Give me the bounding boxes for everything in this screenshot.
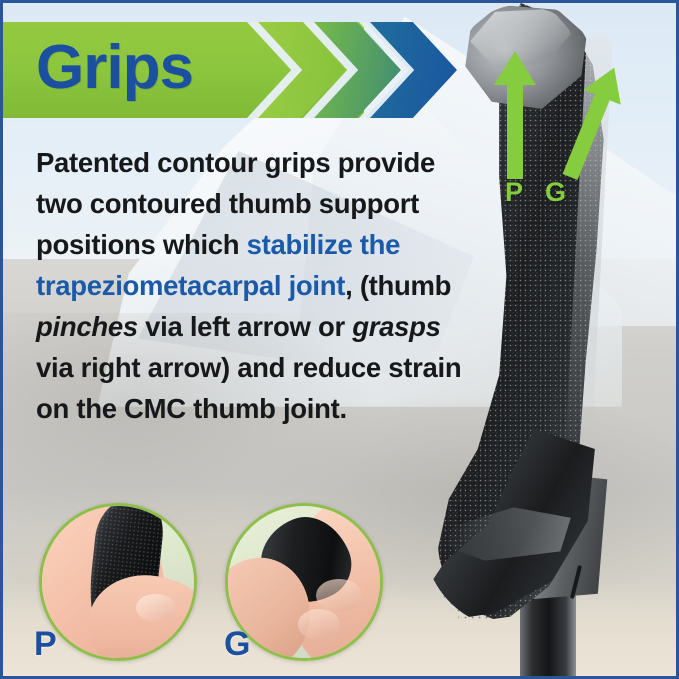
text-segment-italic-pinches: pinches <box>36 311 138 342</box>
knuckle-detail-1 <box>316 579 362 612</box>
knuckle-detail-2 <box>298 609 341 639</box>
text-segment-6: via right arrow) and reduce strain on th… <box>36 352 461 424</box>
thumbnail-detail-p <box>136 594 176 621</box>
description-text: Patented contour grips provide two conto… <box>36 142 466 429</box>
product-feature-poster: Grips Patented contour grips provide two… <box>0 0 679 679</box>
inset-label-p: P <box>34 625 57 664</box>
cane-grip-photo: P G <box>428 0 679 679</box>
pinch-arrow-icon <box>494 51 536 179</box>
page-title: Grips <box>36 33 193 103</box>
grip-arrow-label-g: G <box>545 177 566 208</box>
text-segment-4: via left arrow or <box>138 311 352 342</box>
grip-arrow-label-p: P <box>505 177 523 208</box>
inset-label-g: G <box>224 625 250 664</box>
pinch-grip-photo <box>39 503 197 661</box>
